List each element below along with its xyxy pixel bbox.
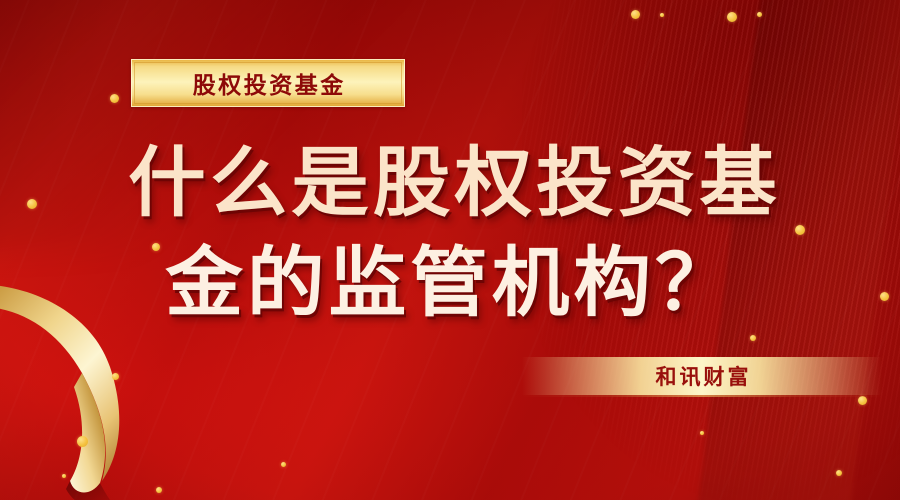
- poster-canvas: 股权投资基金 什么是股权投资基 金的监管机构？ 和讯财富: [0, 0, 900, 500]
- gold-dot: [110, 94, 119, 103]
- gold-dot: [281, 462, 286, 467]
- gold-dot: [700, 431, 704, 435]
- gold-dot: [660, 13, 664, 17]
- category-badge[interactable]: 股权投资基金: [131, 59, 405, 107]
- gold-dot: [156, 487, 162, 493]
- attribution-label: 和讯财富: [653, 361, 752, 391]
- gold-dot: [77, 436, 88, 447]
- gold-dot: [836, 470, 842, 476]
- gold-dot: [750, 335, 756, 341]
- gold-dot: [727, 12, 737, 22]
- gold-dot: [858, 396, 867, 405]
- gold-dot: [631, 10, 640, 19]
- headline-line-1: 什么是股权投资基: [0, 140, 900, 228]
- gold-dot: [62, 474, 66, 478]
- attribution-banner[interactable]: 和讯财富: [522, 357, 882, 395]
- headline-block: 什么是股权投资基 金的监管机构？: [0, 140, 900, 328]
- category-badge-label: 股权投资基金: [190, 66, 346, 100]
- gold-dot: [757, 12, 762, 17]
- headline-line-2: 金的监管机构？: [0, 240, 900, 328]
- gold-dot: [112, 373, 119, 380]
